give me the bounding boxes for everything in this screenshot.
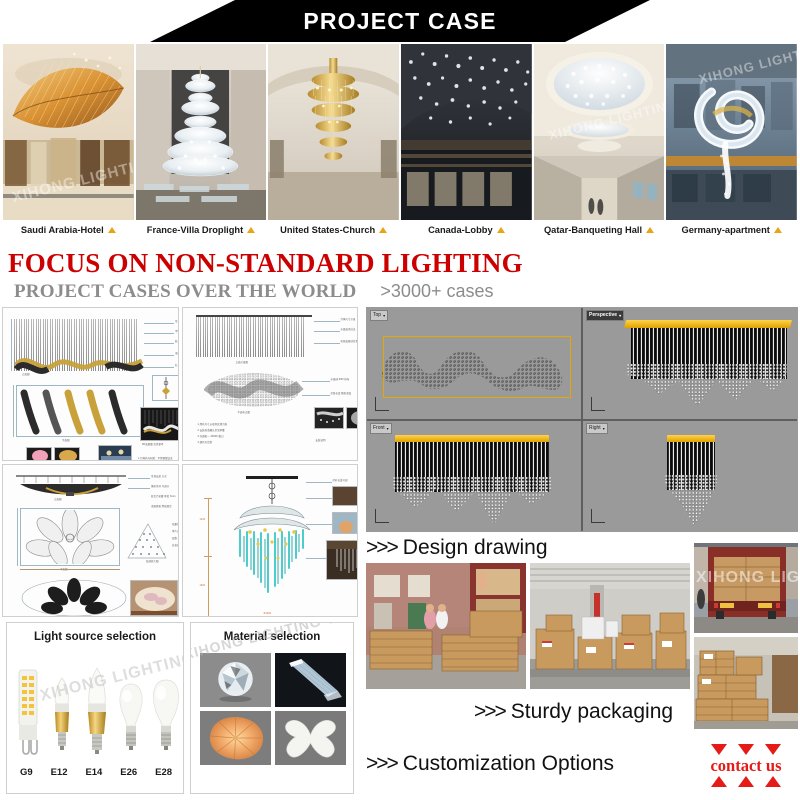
cad-note: 水晶珠串挂法	[341, 328, 356, 331]
project-photo-united-states-church[interactable]	[268, 44, 399, 220]
bulb-e12[interactable]	[48, 662, 76, 763]
cad-note: 吊杆长度可调	[333, 479, 348, 482]
cad-note: 灯具总高 H=2800mm 可定制	[175, 364, 179, 367]
contact-us-badge[interactable]: contact us	[697, 737, 795, 793]
3d-viewport-grid: Top ▾ Perspective ▾ Front ▾	[366, 307, 798, 532]
packaging-photo-loading-dock[interactable]	[366, 563, 526, 689]
triangle-down-icon	[711, 744, 727, 755]
triangle-up-icon	[711, 776, 727, 787]
viewport-label-text: Right	[589, 424, 601, 433]
project-caption-label: United States-Church	[280, 225, 375, 235]
viewport-label-text: Front	[373, 424, 385, 433]
bulb-e14[interactable]	[82, 662, 110, 763]
project-caption-label: Saudi Arabia-Hotel	[21, 225, 104, 235]
chevron-down-icon: ▾	[383, 311, 385, 320]
project-caption-label: Canada-Lobby	[428, 225, 493, 235]
bulb-label-e14: E14	[85, 767, 102, 778]
case-count: >3000+ cases	[380, 281, 493, 302]
material-glass-rods[interactable]	[275, 653, 346, 707]
viewport-label-front[interactable]: Front ▾	[370, 423, 392, 434]
project-caption-label: Qatar-Banqueting Hall	[544, 225, 642, 235]
triangle-up-icon	[379, 227, 387, 233]
material-grid	[200, 653, 346, 765]
selection-panels: Light source selection	[6, 622, 354, 794]
bulb-label-row: G9 E12 E14 E26 E28	[11, 767, 181, 778]
cad-panel-wave-plan[interactable]: 立面示意图 灯体尺寸示意 水晶珠串挂法 电源及驱动位置 平面布点图 水晶球 Φ3…	[182, 307, 359, 461]
material-white-butterfly[interactable]	[275, 711, 346, 765]
triangle-up-icon	[765, 776, 781, 787]
viewport-label-perspective[interactable]: Perspective ▾	[586, 310, 624, 321]
bulb-e28[interactable]	[150, 662, 178, 763]
project-photo-france-villa-droplight[interactable]	[136, 44, 267, 220]
project-photo-germany-apartment[interactable]: XIHONG LIGHTING CUSTOM	[666, 44, 797, 220]
headline-sub-row: PROJECT CASES OVER THE WORLD >3000+ case…	[14, 281, 494, 303]
viewport-axis-gizmo	[591, 397, 605, 411]
project-caption: Canada-Lobby	[401, 222, 532, 238]
viewport-label-top[interactable]: Top ▾	[370, 310, 388, 321]
triangle-up-icon	[247, 227, 255, 233]
bulb-label-g9: G9	[20, 767, 33, 778]
cad-panel-wave-curtain[interactable]: 立面图 吊顶结构安装 不锈钢吊杆及固定件 亚克力灯片 规格与排布 金属骨架及支撑…	[2, 307, 179, 461]
viewport-top[interactable]: Top ▾	[367, 308, 581, 419]
project-caption-row: Saudi Arabia-Hotel France-Villa Dropligh…	[0, 222, 800, 238]
bulb-label-e28: E28	[155, 767, 172, 778]
label-design-drawing: >>>Design drawing	[366, 536, 548, 560]
viewport-label-text: Top	[373, 311, 381, 320]
project-caption: Saudi Arabia-Hotel	[3, 222, 134, 238]
project-caption-label: Germany-apartment	[682, 225, 770, 235]
material-panel: Material selection	[190, 622, 354, 794]
light-source-panel: Light source selection	[6, 622, 184, 794]
viewport-right[interactable]: Right ▾	[583, 421, 797, 532]
selection-bounding-box	[383, 336, 571, 398]
cad-panel-teal-droplight[interactable]: 1200 1600 Φ1000 总高 H=1800mm 可定制 吊杆长度可调 玻…	[182, 464, 359, 618]
project-caption-label: France-Villa Droplight	[147, 225, 243, 235]
viewport-axis-gizmo	[375, 397, 389, 411]
project-caption: France-Villa Droplight	[136, 222, 267, 238]
cad-note: 吊顶结构安装	[175, 320, 179, 323]
headline-sub: PROJECT CASES OVER THE WORLD	[14, 281, 356, 303]
triangle-up-icon	[738, 776, 754, 787]
headline-main: FOCUS ON NON-STANDARD LIGHTING	[8, 248, 523, 279]
triangle-up-icon	[108, 227, 116, 233]
cad-note: 安装说明	[316, 439, 326, 442]
project-photo-qatar-banqueting-hall[interactable]: XIHONG LIGHTING CUSTOM	[534, 44, 665, 220]
project-caption: United States-Church	[268, 222, 399, 238]
bulb-row	[11, 651, 181, 763]
contact-triangles-top	[711, 744, 781, 755]
triangle-down-icon	[738, 744, 754, 755]
packaging-photo-warehouse[interactable]	[530, 563, 690, 689]
viewport-perspective[interactable]: Perspective ▾	[583, 308, 797, 419]
material-title: Material selection	[191, 631, 353, 643]
bulb-g9[interactable]	[14, 662, 42, 763]
packaging-photo-loaded-truck[interactable]: XIHONG LIGHTING CUSTOM	[694, 543, 798, 633]
page-title: PROJECT CASE	[150, 0, 650, 42]
project-photo-row: XIHONG LIGHTING CUSTOM	[0, 44, 800, 220]
project-photo-saudi-arabia-hotel[interactable]: XIHONG LIGHTING CUSTOM	[3, 44, 134, 220]
viewport-label-text: Perspective	[589, 311, 617, 320]
packaging-photo-stacked-crates[interactable]	[694, 637, 798, 729]
material-amber-flower-disc[interactable]	[200, 711, 271, 765]
viewport-axis-gizmo	[591, 509, 605, 523]
viewport-front[interactable]: Front ▾	[367, 421, 581, 532]
project-caption: Qatar-Banqueting Hall	[534, 222, 665, 238]
chevron-down-icon: ▾	[619, 311, 621, 320]
contact-us-label[interactable]: contact us	[710, 756, 781, 775]
page-header: PROJECT CASE	[0, 0, 800, 42]
chevron-right-triple-icon: >>>	[366, 752, 397, 775]
cad-note: 电源及驱动位置	[341, 340, 358, 343]
project-photo-canada-lobby[interactable]	[401, 44, 532, 220]
viewport-label-right[interactable]: Right ▾	[586, 423, 608, 434]
cad-note: 亚克力灯片 规格与排布	[175, 340, 179, 343]
material-crystal-ball[interactable]	[200, 653, 271, 707]
cad-note: 灯体尺寸示意	[341, 318, 356, 321]
chevron-down-icon: ▾	[387, 424, 389, 433]
triangle-up-icon	[497, 227, 505, 233]
label-sturdy-packaging: >>>Sturdy packaging	[474, 700, 673, 724]
triangle-down-icon	[765, 744, 781, 755]
label-customization-options: >>>Customization Options	[366, 752, 614, 776]
triangle-up-icon	[646, 227, 654, 233]
viewport-axis-gizmo	[375, 509, 389, 523]
label-sturdy-packaging-text: Sturdy packaging	[511, 700, 673, 723]
cad-note: 不锈钢吊杆及固定件	[175, 330, 179, 333]
label-customization-options-text: Customization Options	[403, 752, 614, 775]
chevron-right-triple-icon: >>>	[474, 700, 505, 723]
cad-note: 金属骨架及支撑件	[175, 352, 179, 355]
cad-panel-flower-ceiling[interactable]: 立面图 吊顶安装 方式 钢丝吊杆 可调节 亚克力花瓣 厚度 3mm 金属骨架 焊…	[2, 464, 179, 618]
bulb-label-e26: E26	[120, 767, 137, 778]
light-source-title: Light source selection	[7, 631, 183, 643]
bulb-e26[interactable]	[116, 662, 144, 763]
triangle-up-icon	[774, 227, 782, 233]
chevron-down-icon: ▾	[603, 424, 605, 433]
project-caption: Germany-apartment	[666, 222, 797, 238]
contact-triangles-bottom	[711, 776, 781, 787]
label-design-drawing-text: Design drawing	[403, 536, 548, 559]
chevron-right-triple-icon: >>>	[366, 536, 397, 559]
cad-drawing-grid: 立面图 吊顶结构安装 不锈钢吊杆及固定件 亚克力灯片 规格与排布 金属骨架及支撑…	[2, 307, 358, 617]
bulb-label-e12: E12	[51, 767, 68, 778]
